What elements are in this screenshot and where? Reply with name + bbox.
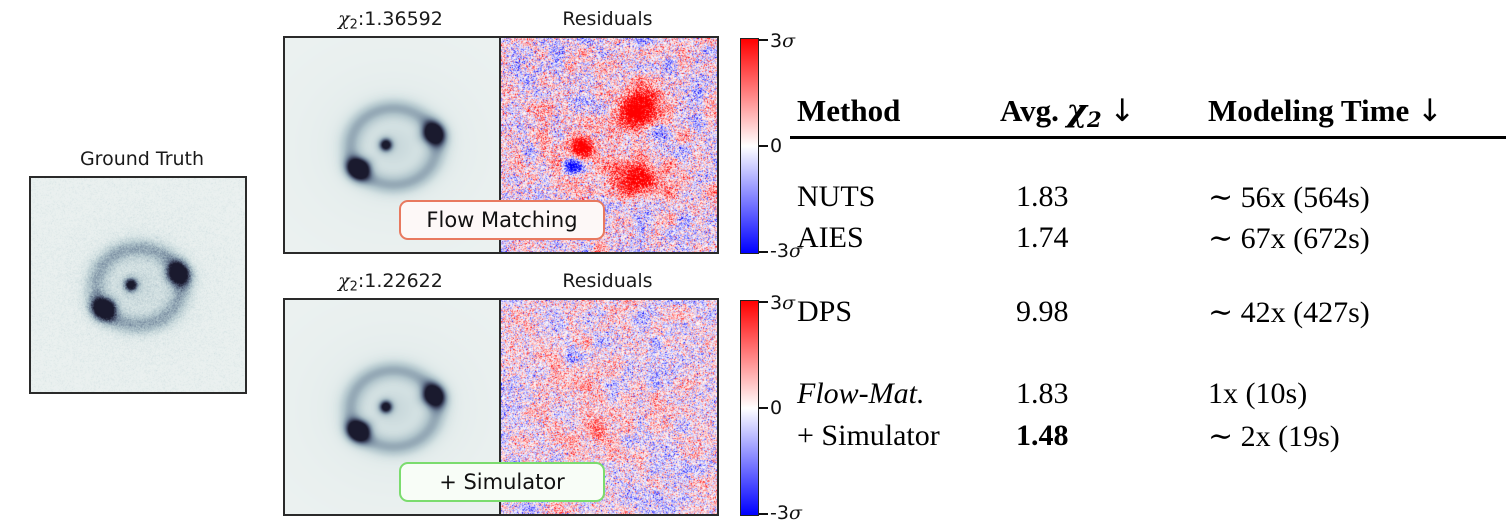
- table-row: NUTS: [797, 180, 875, 214]
- table-row-chi: 1.83: [1016, 180, 1069, 214]
- chi-subscript: 2: [1087, 107, 1102, 132]
- results-table: Method Avg. χ2 ↓ Modeling Time ↓ NUTS 1.…: [0, 0, 1509, 532]
- table-row-time: ∼ 67x (672s): [1208, 221, 1370, 256]
- table-row-time: 1x (10s): [1208, 377, 1307, 411]
- table-row: Flow-Mat.: [797, 377, 925, 411]
- table-row-chi: 1.74: [1016, 221, 1069, 255]
- sort-down-arrow-icon: ↓: [1109, 93, 1135, 129]
- table-row: + Simulator: [797, 419, 940, 453]
- table-row-time: ∼ 56x (564s): [1208, 180, 1370, 215]
- table-header-avg-chi: Avg. χ2 ↓: [1000, 93, 1135, 132]
- table-header-rule: [790, 136, 1506, 139]
- table-row-time: ∼ 2x (19s): [1208, 419, 1340, 454]
- table-row-time: ∼ 42x (427s): [1208, 295, 1370, 330]
- time-suffix: ): [1297, 377, 1307, 410]
- avg-chi-prefix: Avg.: [1000, 93, 1067, 128]
- table-header-modeling-time: Modeling Time ↓: [1208, 93, 1443, 129]
- table-row-chi: 9.98: [1016, 295, 1069, 329]
- table-row: AIES: [797, 221, 864, 255]
- chi-symbol: χ: [1067, 93, 1087, 129]
- sort-down-arrow-icon: ↓: [1417, 93, 1443, 129]
- table-row: DPS: [797, 295, 852, 329]
- table-row-chi: 1.48: [1016, 419, 1069, 453]
- time-highlight: 10s: [1256, 377, 1298, 410]
- table-row-chi: 1.83: [1016, 377, 1069, 411]
- table-header-method: Method: [797, 93, 900, 129]
- time-prefix: 1x (: [1208, 377, 1256, 410]
- modeling-time-label: Modeling Time: [1208, 93, 1417, 128]
